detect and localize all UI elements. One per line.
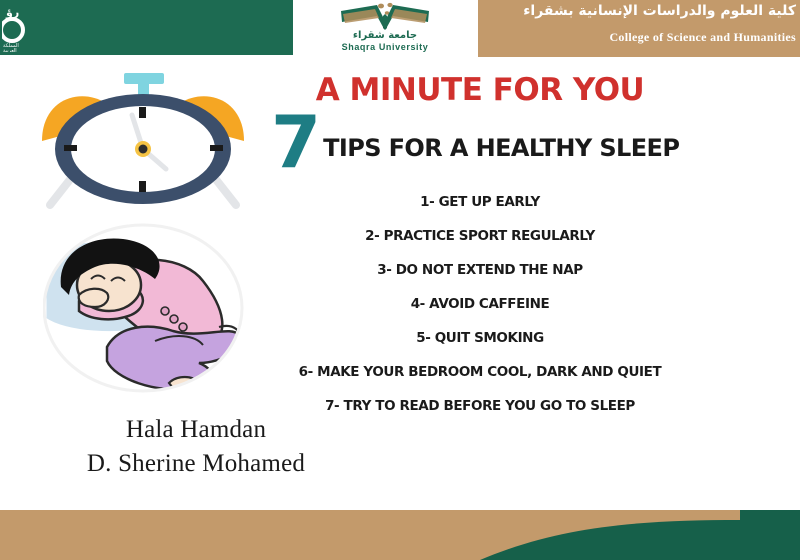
- authors-block: Hala Hamdan D. Sherine Mohamed: [31, 413, 361, 481]
- college-name-arabic: كلية العلوم والدراسات الإنسانية بشقراء: [523, 2, 796, 20]
- list-item: 5- QUIT SMOKING: [265, 321, 695, 355]
- list-item: 1- GET UP EARLY: [265, 185, 695, 219]
- list-item: 2- PRACTICE SPORT REGULARLY: [265, 219, 695, 253]
- open-book-logo-icon: [337, 1, 433, 31]
- sleeping-woman-illustration: [43, 223, 255, 393]
- alarm-clock-illustration: [28, 65, 258, 210]
- author-name: Hala Hamdan: [31, 413, 361, 447]
- vision-2030-icon: رؤ المملكة العربية: [2, 4, 32, 52]
- tips-list: 1- GET UP EARLY 2- PRACTICE SPORT REGULA…: [265, 185, 695, 423]
- list-item: 3- DO NOT EXTEND THE NAP: [265, 253, 695, 287]
- slide-footer-band: [0, 510, 800, 560]
- shaqra-university-logo: جامعة شقراء Shaqra University: [309, 1, 461, 55]
- subtitle-row: 7 TIPS FOR A HEALTHY SLEEP: [265, 111, 695, 173]
- header-green-block: [0, 0, 293, 55]
- list-item: 4- AVOID CAFFEINE: [265, 287, 695, 321]
- author-name: D. Sherine Mohamed: [31, 447, 361, 481]
- svg-text:العربية: العربية: [3, 48, 17, 52]
- college-name-english: College of Science and Humanities: [609, 30, 796, 44]
- page-title: A MINUTE FOR YOU: [265, 73, 695, 107]
- slide-header-banner: رؤ المملكة العربية: [0, 0, 800, 58]
- logo-english-name: Shaqra University: [342, 42, 429, 52]
- presentation-slide: رؤ المملكة العربية: [0, 0, 800, 560]
- slide-content-card: A MINUTE FOR YOU 7 TIPS FOR A HEALTHY SL…: [3, 57, 740, 510]
- tips-count: 7: [271, 111, 321, 173]
- page-subtitle: TIPS FOR A HEALTHY SLEEP: [323, 135, 679, 173]
- list-item: 6- MAKE YOUR BEDROOM COOL, DARK AND QUIE…: [265, 355, 695, 389]
- headline-block: A MINUTE FOR YOU 7 TIPS FOR A HEALTHY SL…: [265, 73, 695, 173]
- logo-arabic-name: جامعة شقراء: [353, 31, 417, 41]
